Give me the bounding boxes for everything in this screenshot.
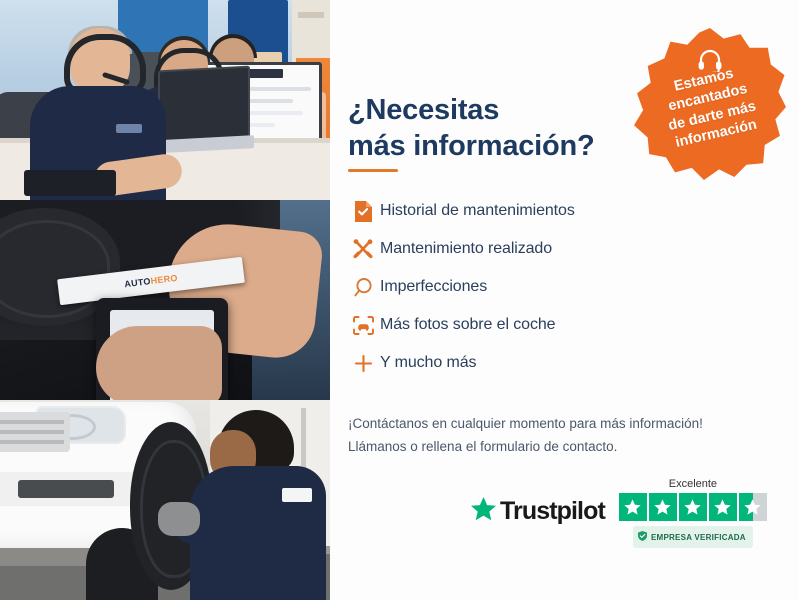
star-rating	[619, 493, 767, 521]
trustpilot-block[interactable]: Trustpilot Excelente	[470, 478, 780, 552]
ruler-brand-part2: HERO	[150, 273, 178, 286]
plus-icon	[346, 348, 380, 378]
tools-cross-icon	[346, 234, 380, 264]
magnifier-icon	[346, 272, 380, 302]
feature-label: Mantenimiento realizado	[380, 240, 552, 258]
photo-strip: AUTOHERO	[0, 0, 330, 600]
title-divider	[348, 169, 398, 172]
shield-check-icon	[638, 528, 647, 546]
inspector-hand-lower	[96, 326, 222, 400]
ruler-brand: AUTOHERO	[124, 273, 179, 289]
star-1	[619, 493, 647, 521]
verified-label: EMPRESA VERIFICADA	[651, 533, 746, 542]
verified-badge: EMPRESA VERIFICADA	[633, 526, 753, 548]
call-center-agents-photo	[0, 0, 330, 200]
document-check-icon	[346, 196, 380, 226]
contact-badge: Estamos encantados de darte más informac…	[634, 28, 786, 180]
feature-label: Imperfecciones	[380, 278, 487, 296]
trustpilot-logo[interactable]: Trustpilot	[470, 496, 605, 527]
feature-label: Historial de mantenimientos	[380, 202, 575, 220]
rating-label: Excelente	[669, 478, 717, 490]
contact-line-1: ¡Contáctanos en cualquier momento para m…	[348, 412, 778, 435]
trustpilot-rating: Excelente	[619, 478, 767, 548]
car-inspection-photo: AUTOHERO	[0, 200, 330, 400]
star-4	[709, 493, 737, 521]
page-title: ¿Necesitas más información?	[348, 93, 678, 164]
camera-car-icon	[346, 310, 380, 340]
car-grille	[0, 412, 70, 452]
content-panel: ¿Necesitas más información? Estamos enca…	[330, 0, 799, 600]
list-item: Y mucho más	[346, 344, 726, 382]
technician	[196, 410, 326, 600]
info-banner: AUTOHERO ¿Necesitas	[0, 0, 799, 600]
star-2	[649, 493, 677, 521]
list-item: Historial de mantenimientos	[346, 192, 726, 230]
ruler-brand-part1: AUTO	[124, 276, 152, 289]
headline-line-2: más información?	[348, 129, 678, 164]
list-item: Mantenimiento realizado	[346, 230, 726, 268]
list-item: Más fotos sobre el coche	[346, 306, 726, 344]
workshop-tire-photo	[0, 400, 330, 600]
headline-line-1: ¿Necesitas	[348, 93, 678, 128]
feature-label: Y mucho más	[380, 354, 476, 372]
feature-label: Más fotos sobre el coche	[380, 316, 555, 334]
contact-paragraph: ¡Contáctanos en cualquier momento para m…	[348, 412, 778, 458]
trustpilot-star-icon	[470, 496, 497, 527]
car-bumper	[0, 472, 136, 506]
feature-list: Historial de mantenimientos M	[346, 192, 726, 382]
star-5-half	[739, 493, 767, 521]
desk-tablet	[24, 170, 116, 196]
contact-line-2: Llámanos o rellena el formulario de cont…	[348, 435, 778, 458]
list-item: Imperfecciones	[346, 268, 726, 306]
star-3	[679, 493, 707, 521]
trustpilot-wordmark: Trustpilot	[500, 497, 605, 526]
